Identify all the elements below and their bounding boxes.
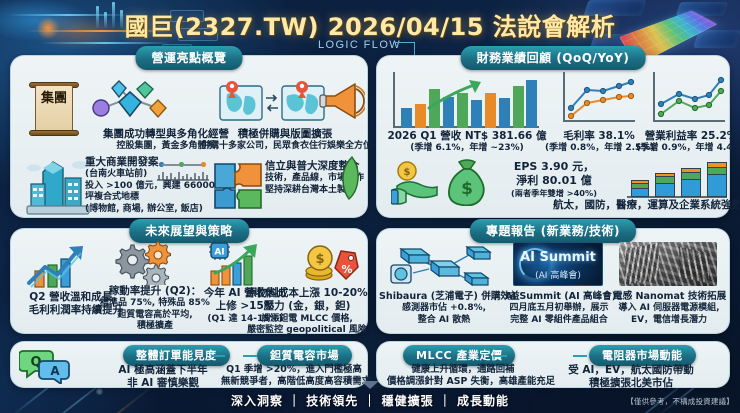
footer-disclaimer: 【僅供參考，不構成投資建議】 <box>626 396 734 407</box>
caption-line: 價格調漲針對 ASP 失衡，高雄產能充足 <box>387 376 539 388</box>
operating-margin-caption: 營業利益率 25.2% (季增 0.9%，年增 4.4%) <box>631 130 740 155</box>
qa-bubbles-icon: Q A <box>19 348 71 389</box>
svg-text:AI: AI <box>214 248 224 258</box>
caption-line: 四月底五月初舉辦，展示 <box>505 303 613 315</box>
caption-line: 無新競爭者，高階低高度高容積需求 <box>221 376 367 388</box>
caption-line: 整合 AI 散熱 <box>379 315 509 327</box>
operating-margin-line-chart <box>653 72 725 122</box>
caption-line: 感測器市佔 +0.8%, <box>379 303 509 315</box>
nanomat-sem-image <box>619 242 717 286</box>
pill-connector <box>211 355 225 357</box>
caption-line: AI 極高涵蓋下半年 <box>107 364 219 377</box>
caption-line: 坪複合式地標 <box>85 192 209 204</box>
taiwan-island-icon <box>341 156 361 205</box>
panel-operations-highlights: 營運亮點概覽 集團 集團成功轉型與多角化經營 控股集團，黃金多角體系 <box>10 55 368 218</box>
reports-item-2-caption: 電感 Nanomat 技術拓展 導入 AI 伺服器電源模組, EV，電信增長潛力 <box>613 291 725 326</box>
world-map-icon <box>219 78 327 131</box>
panel-reports-title: 專題報告 (新業務/技術) <box>470 219 636 243</box>
ai-summit-title: AI Summit <box>514 250 602 265</box>
operations-item-1-caption: 積極併購與版圖擴張 併購十多家公司，民眾食衣住行娛樂全方位 <box>201 128 369 153</box>
ai-summit-subtitle: (AI 高峰會) <box>514 268 602 281</box>
footer-pointer-icon <box>361 381 379 389</box>
money-bag-icon: $ <box>445 156 489 211</box>
outlook-item-3-caption: 原物料成本上漲 10-20% 壓力 (金，銀，鉭) 調漲鉭電 MLCC 價格, … <box>245 287 369 337</box>
caption-line: 營業利益率 25.2% <box>631 130 740 143</box>
panel-financial-review: 財務業績回顧 (QoQ/YoY) 2026 Q1 營收 NT$ 381.66 億… <box>376 55 730 218</box>
gears-icon <box>115 241 175 290</box>
panel-outlook-title: 未來展望與策略 <box>129 219 249 243</box>
qa-right-item-1-caption: 受 AI，EV，航太國防帶動 積極擴張北美市佔 <box>567 364 695 391</box>
caption-line: AI Summit (AI 高峰會) <box>505 291 613 303</box>
svg-text:$: $ <box>404 167 411 178</box>
caption-line: 積極併購與版圖擴張 <box>201 128 369 141</box>
qa-left-item-1-title: 鉭質電容市場 <box>257 345 352 366</box>
caption-line: 調漲鉭電 MLCC 價格, <box>245 314 369 326</box>
caption-line: 受 AI，EV，航太國防帶動 <box>567 364 695 377</box>
reports-item-1-caption: AI Summit (AI 高峰會) 四月底五月初舉辦，展示 完整 AI 零組件… <box>505 291 613 326</box>
qa-left-item-1-caption: Q1 季增 >20%，進入門檻極高 無新競爭者，高階低高度高容積需求 <box>221 364 367 388</box>
pill-connector <box>493 355 507 357</box>
infographic-root: 國巨(2327.TW) 2026/04/15 法說會解析 LOGIC FLOW … <box>0 0 740 413</box>
revenue-bar-chart <box>393 72 539 128</box>
caption-line: 投入 >100 億元，興建 66000 <box>85 181 209 193</box>
pill-connector <box>243 355 257 357</box>
stacked-bar <box>655 173 675 197</box>
chip-network-icon <box>389 243 497 296</box>
segment-caption: 航太，國防，醫療，運算及企業系統強勁 <box>553 199 729 212</box>
coins-price-tag-icon: $ % <box>303 241 361 292</box>
caption-line: 航太，國防，醫療，運算及企業系統強勁 <box>553 199 729 212</box>
skyscraper-icon <box>25 156 91 221</box>
caption-line: 壓力 (金，銀，鉭) <box>245 300 369 313</box>
stacked-bar <box>707 162 727 197</box>
qa-right-item-0-caption: 健康上升循環，通路回補 價格調漲針對 ASP 失衡，高雄產能充足 <box>387 364 539 388</box>
panel-qa-left: Q A 整體訂單能見度 AI 極高涵蓋下半年 非 AI 審慎樂觀 鉭質電容市場 … <box>10 341 368 388</box>
diamond-network-icon <box>87 78 173 126</box>
revenue-caption: 2026 Q1 營收 NT$ 381.66 億 (季增 6.1%，年增 ~23%… <box>381 130 553 155</box>
caption-line: 電感 Nanomat 技術拓展 <box>613 291 725 303</box>
caption-line: 併購十多家公司，民眾食衣住行娛樂全方位 <box>201 141 369 153</box>
caption-line: (博物館, 商場, 辦公室, 飯店) <box>85 204 209 216</box>
scroll-label: 集團 <box>35 92 73 106</box>
svg-text:%: % <box>341 263 352 276</box>
growth-arrow-icon <box>25 243 91 294</box>
hand-with-money-icon: $ <box>391 160 445 211</box>
qa-right-item-1-title: 電阻器市場動能 <box>589 345 696 366</box>
caption-line: 2026 Q1 營收 NT$ 381.66 億 <box>381 130 553 143</box>
caption-line: 嚴密監控 geopolitical 風險 <box>245 325 369 337</box>
caption-line: Q1 季增 >20%，進入門檻極高 <box>221 364 367 376</box>
mini-sparkline-chart <box>157 160 209 180</box>
eps-caption: EPS 3.90 元， 淨利 80.01 億 (兩者季年雙增 >40%) <box>489 160 619 199</box>
caption-line: 淨利 80.01 億 <box>489 174 619 188</box>
puzzle-icon <box>211 160 267 217</box>
panel-future-outlook: 未來展望與策略 Q2 營收溫和成長， 毛利利潤率持續提升 <box>10 228 368 334</box>
caption-line: (季增 6.1%，年增 ~23%) <box>381 143 553 155</box>
deco-line <box>40 42 170 44</box>
svg-text:$: $ <box>461 179 473 199</box>
megaphone-icon <box>319 80 365 127</box>
caption-line: (季增 0.9%，年增 4.4%) <box>631 143 740 155</box>
page-title: 國巨(2327.TW) 2026/04/15 法說會解析 <box>0 7 740 42</box>
pill-connector <box>573 355 587 357</box>
ai-summit-banner: AI Summit (AI 高峰會) <box>513 242 603 286</box>
qa-left-item-0-caption: AI 極高涵蓋下半年 非 AI 審慎樂觀 <box>107 364 219 391</box>
caption-line: 健康上升循環，通路回補 <box>387 364 539 376</box>
panel-operations-title: 營運亮點概覽 <box>135 46 242 70</box>
caption-line: 導入 AI 伺服器電源模組, <box>613 303 725 315</box>
caption-line: (兩者季年雙增 >40%) <box>489 188 619 199</box>
panel-special-reports: 專題報告 (新業務/技術) <box>376 228 730 334</box>
caption-line: 完整 AI 零組件產品組合 <box>505 315 613 327</box>
stacked-bar <box>681 168 701 197</box>
caption-line: Shibaura (芝浦電子) 併購效益 <box>379 291 509 303</box>
gross-margin-line-chart <box>563 72 635 122</box>
ai-chart-icon: AI <box>207 241 265 292</box>
caption-line: EPS 3.90 元， <box>489 160 619 174</box>
caption-line: EV，電信增長潛力 <box>613 315 725 327</box>
svg-text:$: $ <box>315 252 324 267</box>
panel-financial-title: 財務業績回顧 (QoQ/YoY) <box>461 46 646 70</box>
panel-qa-right: MLCC 產業定價 健康上升循環，通路回補 價格調漲針對 ASP 失衡，高雄產能… <box>376 341 730 388</box>
stacked-bar <box>631 180 649 197</box>
reports-item-0-caption: Shibaura (芝浦電子) 併購效益 感測器市佔 +0.8%, 整合 AI … <box>379 291 509 326</box>
logic-flow-label: LOGIC FLOW <box>318 39 401 51</box>
footer-bar: 深入洞察 ｜ 技術領先 ｜ 穩健擴張 ｜ 成長動能 【僅供參考，不構成投資建議】 <box>0 388 740 413</box>
segment-stacked-bar-chart <box>627 160 727 198</box>
caption-line: 原物料成本上漲 10-20% <box>245 287 369 300</box>
svg-text:A: A <box>50 364 60 378</box>
logic-flow-connector <box>393 42 415 56</box>
